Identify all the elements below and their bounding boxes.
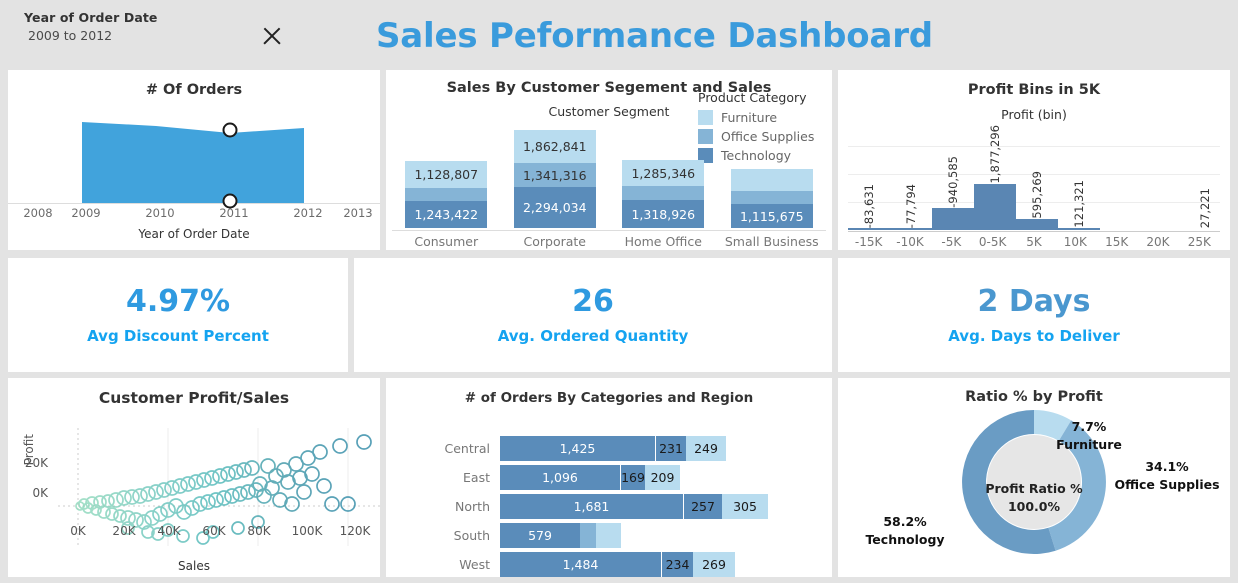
table-row: Central 1,425 231 249 — [386, 434, 826, 462]
bar-segment-office-supplies[interactable] — [731, 191, 813, 204]
bar-segment-office-supplies[interactable]: 1,341,316 — [514, 163, 596, 187]
donut-center: Profit Ratio % 100.0% — [985, 480, 1082, 516]
bin-cell: -83,631 — [848, 146, 890, 230]
kpi-label: Avg. Ordered Quantity — [498, 327, 689, 345]
bar-segment-technology[interactable]: 2,294,034 — [514, 187, 596, 228]
bar-segment-furniture[interactable]: 249 — [686, 436, 726, 461]
panel-profit-bins: Profit Bins in 5K Profit (bin) -83,631 -… — [838, 70, 1230, 250]
kpi-value: 2 Days — [978, 285, 1091, 320]
x-tick: 2008 — [23, 206, 52, 220]
x-tick: 2010 — [145, 206, 174, 220]
filter-title: Year of Order Date — [24, 10, 158, 25]
bar-segment-technology[interactable]: 1,096 — [500, 465, 620, 490]
row-label: North — [386, 499, 500, 514]
kpi-card-avg-quantity: 26 Avg. Ordered Quantity — [354, 258, 832, 372]
bar-segment-technology[interactable]: 1,681 — [500, 494, 683, 519]
table-row: East 1,096 169 209 — [386, 463, 826, 491]
bins-x-axis: -15K -10K -5K 0-5K 5K 10K 15K 20K 25K — [848, 231, 1220, 249]
bar-segment-technology[interactable]: 1,318,926 — [622, 200, 704, 228]
donut-title: Ratio % by Profit — [838, 389, 1230, 405]
slice-name: Furniture — [1034, 436, 1144, 454]
x-tick: Home Office — [609, 231, 718, 249]
panel-orders: # Of Orders 2008 2009 2010 2011 2012 201… — [8, 70, 380, 250]
bar-segment-office-supplies[interactable]: 231 — [655, 436, 686, 461]
kpi-label: Avg. Days to Deliver — [948, 327, 1120, 345]
legend-swatch-furniture — [698, 110, 713, 125]
x-tick: 80K — [247, 524, 270, 538]
orders-x-label: Year of Order Date — [8, 227, 380, 241]
segment-x-axis: Consumer Corporate Home Office Small Bus… — [392, 230, 826, 249]
x-tick: -10K — [889, 232, 930, 249]
x-tick: 2013 — [343, 206, 372, 220]
stacked-bar[interactable]: 1,128,807 1,243,422 — [405, 161, 487, 228]
slice-percent: 34.1% — [1106, 458, 1228, 476]
table-row: North 1,681 257 305 — [386, 492, 826, 520]
x-tick: 20K — [1137, 232, 1178, 249]
x-tick: 60K — [202, 524, 225, 538]
bar-segment-office-supplies[interactable] — [580, 523, 596, 548]
x-tick: 5K — [1013, 232, 1054, 249]
bar-value: -940,585 — [946, 156, 960, 208]
row-label: West — [386, 557, 500, 572]
orders-x-axis: 2008 2009 2010 2011 2012 2013 — [8, 206, 380, 224]
x-tick: 120K — [340, 524, 371, 538]
bar-value: -77,794 — [904, 184, 918, 228]
dashboard: Year of Order Date 2009 to 2012 Sales Pe… — [0, 0, 1238, 583]
bin-cell — [1100, 146, 1142, 230]
panel-ratio-by-profit: Ratio % by Profit Profit Ratio % 100.0% … — [838, 378, 1230, 577]
scatter-title: Customer Profit/Sales — [8, 389, 380, 407]
bar-segment-technology[interactable]: 1,115,675 — [731, 204, 813, 228]
bar-segment-office-supplies[interactable]: 257 — [683, 494, 722, 519]
x-tick: 0K — [70, 524, 86, 538]
panel-orders-by-region: # of Orders By Categories and Region Cen… — [386, 378, 832, 577]
donut-label-technology: 58.2% Technology — [846, 513, 964, 548]
bins-title: Profit Bins in 5K — [838, 82, 1230, 98]
orders-area-chart[interactable] — [8, 104, 380, 204]
region-title: # of Orders By Categories and Region — [386, 390, 832, 406]
scatter-x-label: Sales — [8, 559, 380, 573]
row-label: East — [386, 470, 500, 485]
bar-value: 121,321 — [1072, 180, 1086, 228]
bar-segment-furniture[interactable]: 1,285,346 — [622, 160, 704, 186]
bin-cell: 27,221 — [1184, 146, 1226, 230]
kpi-value: 4.97% — [126, 285, 230, 320]
row-label: Central — [386, 441, 500, 456]
donut-label-office-supplies: 34.1% Office Supplies — [1106, 458, 1228, 493]
bin-bar[interactable] — [1058, 228, 1100, 230]
x-tick: Small Business — [718, 231, 827, 249]
bin-bar[interactable] — [1016, 219, 1058, 230]
bar-segment-furniture[interactable]: 305 — [722, 494, 768, 519]
segment-column-small-business: 1,115,675 — [718, 128, 827, 228]
slice-percent: 58.2% — [846, 513, 964, 531]
x-tick: 10K — [1055, 232, 1096, 249]
bar-segment-technology[interactable]: 579 — [500, 523, 580, 548]
kpi-label: Avg Discount Percent — [87, 327, 269, 345]
x-tick: -5K — [931, 232, 972, 249]
donut-label-furniture: 7.7% Furniture — [1034, 418, 1144, 453]
bin-cell: 595,269 — [1016, 146, 1058, 230]
bar-value: -83,631 — [862, 184, 876, 228]
donut-center-label: Profit Ratio % — [985, 480, 1082, 498]
region-rows: Central 1,425 231 249 East 1,096 169 209… — [386, 434, 826, 579]
bar-segment-technology[interactable]: 1,425 — [500, 436, 655, 461]
stacked-bar[interactable]: 1,285,346 1,318,926 — [622, 160, 704, 228]
x-tick: Consumer — [392, 231, 501, 249]
bar-value: 27,221 — [1198, 188, 1212, 228]
x-tick: 25K — [1179, 232, 1220, 249]
segment-column-consumer: 1,128,807 1,243,422 — [392, 128, 501, 228]
orders-area-svg — [8, 104, 380, 204]
bar-segment-furniture[interactable]: 269 — [693, 552, 735, 577]
scatter-plot-area[interactable] — [8, 418, 380, 577]
orders-axis-line — [8, 203, 380, 204]
page-title: Sales Peformance Dashboard — [376, 16, 933, 56]
x-tick: 20K — [112, 524, 135, 538]
year-filter[interactable]: Year of Order Date 2009 to 2012 — [24, 10, 158, 43]
bar-segment-furniture[interactable] — [596, 523, 621, 548]
bin-cell: -940,585 — [932, 146, 974, 230]
bar-segment-office-supplies[interactable]: 169 — [620, 465, 645, 490]
panel-sales-by-segment: Sales By Customer Segement and Sales Cus… — [386, 70, 832, 250]
bar-segment-furniture[interactable]: 209 — [645, 465, 680, 490]
orders-title: # Of Orders — [8, 82, 380, 98]
bar-segment-office-supplies[interactable]: 234 — [661, 552, 693, 577]
donut-center-value: 100.0% — [985, 498, 1082, 516]
bar-segment-furniture[interactable]: 1,128,807 — [405, 161, 487, 188]
slice-name: Technology — [846, 531, 964, 549]
close-icon[interactable] — [258, 22, 286, 50]
kpi-card-avg-days-to-deliver: 2 Days Avg. Days to Deliver — [838, 258, 1230, 372]
bar-segment-technology[interactable]: 1,484 — [500, 552, 661, 577]
legend-item-furniture[interactable]: Furniture — [698, 108, 818, 127]
table-row: West 1,484 234 269 — [386, 550, 826, 578]
bar-segment-office-supplies[interactable] — [622, 186, 704, 200]
bin-cell — [1142, 146, 1184, 230]
x-tick: 100K — [292, 524, 323, 538]
legend-label: Furniture — [721, 110, 777, 125]
x-tick: Corporate — [501, 231, 610, 249]
range-handle-upper[interactable] — [223, 123, 238, 138]
scatter-points — [8, 418, 380, 578]
bar-value: 1,877,296 — [988, 125, 1002, 184]
legend-title: Product Category — [698, 90, 818, 105]
bar-segment-office-supplies[interactable] — [405, 188, 487, 201]
bin-cell: 121,321 — [1058, 146, 1100, 230]
x-tick: 2011 — [219, 206, 248, 220]
stacked-bar[interactable]: 1,115,675 — [731, 169, 813, 228]
stacked-bar[interactable]: 1,862,841 1,341,316 2,294,034 — [514, 130, 596, 228]
panel-customer-profit-sales: Customer Profit/Sales Profit 20K 0K — [8, 378, 380, 577]
slice-percent: 7.7% — [1034, 418, 1144, 436]
bar-segment-technology[interactable]: 1,243,422 — [405, 201, 487, 228]
x-tick: 40K — [157, 524, 180, 538]
kpi-card-avg-discount: 4.97% Avg Discount Percent — [8, 258, 348, 372]
x-tick: 0-5K — [972, 232, 1013, 249]
x-tick: 15K — [1096, 232, 1137, 249]
slice-name: Office Supplies — [1106, 476, 1228, 494]
bin-bar[interactable] — [932, 208, 974, 230]
x-tick: 2012 — [293, 206, 322, 220]
kpi-value: 26 — [572, 285, 614, 320]
bar-segment-furniture[interactable] — [731, 169, 813, 191]
bins-subtitle: Profit (bin) — [838, 107, 1230, 122]
segment-column-home-office: 1,285,346 1,318,926 — [609, 128, 718, 228]
bins-plot: -83,631 -77,794 -940,585 1,877,296 595,2… — [848, 146, 1220, 230]
x-tick: -15K — [848, 232, 889, 249]
table-row: South 579 — [386, 521, 826, 549]
bin-cell: 1,877,296 — [974, 146, 1016, 230]
bin-cell: -77,794 — [890, 146, 932, 230]
bin-bar[interactable] — [974, 184, 1016, 230]
row-label: South — [386, 528, 500, 543]
filter-range-value: 2009 to 2012 — [24, 28, 158, 43]
dashboard-header: Year of Order Date 2009 to 2012 Sales Pe… — [0, 0, 1238, 66]
segment-column-corporate: 1,862,841 1,341,316 2,294,034 — [501, 128, 610, 228]
x-tick: 2009 — [71, 206, 100, 220]
bar-segment-furniture[interactable]: 1,862,841 — [514, 130, 596, 163]
segment-plot: 1,128,807 1,243,422 1,862,841 1,341,316 … — [392, 128, 826, 228]
bar-value: 595,269 — [1030, 171, 1044, 219]
